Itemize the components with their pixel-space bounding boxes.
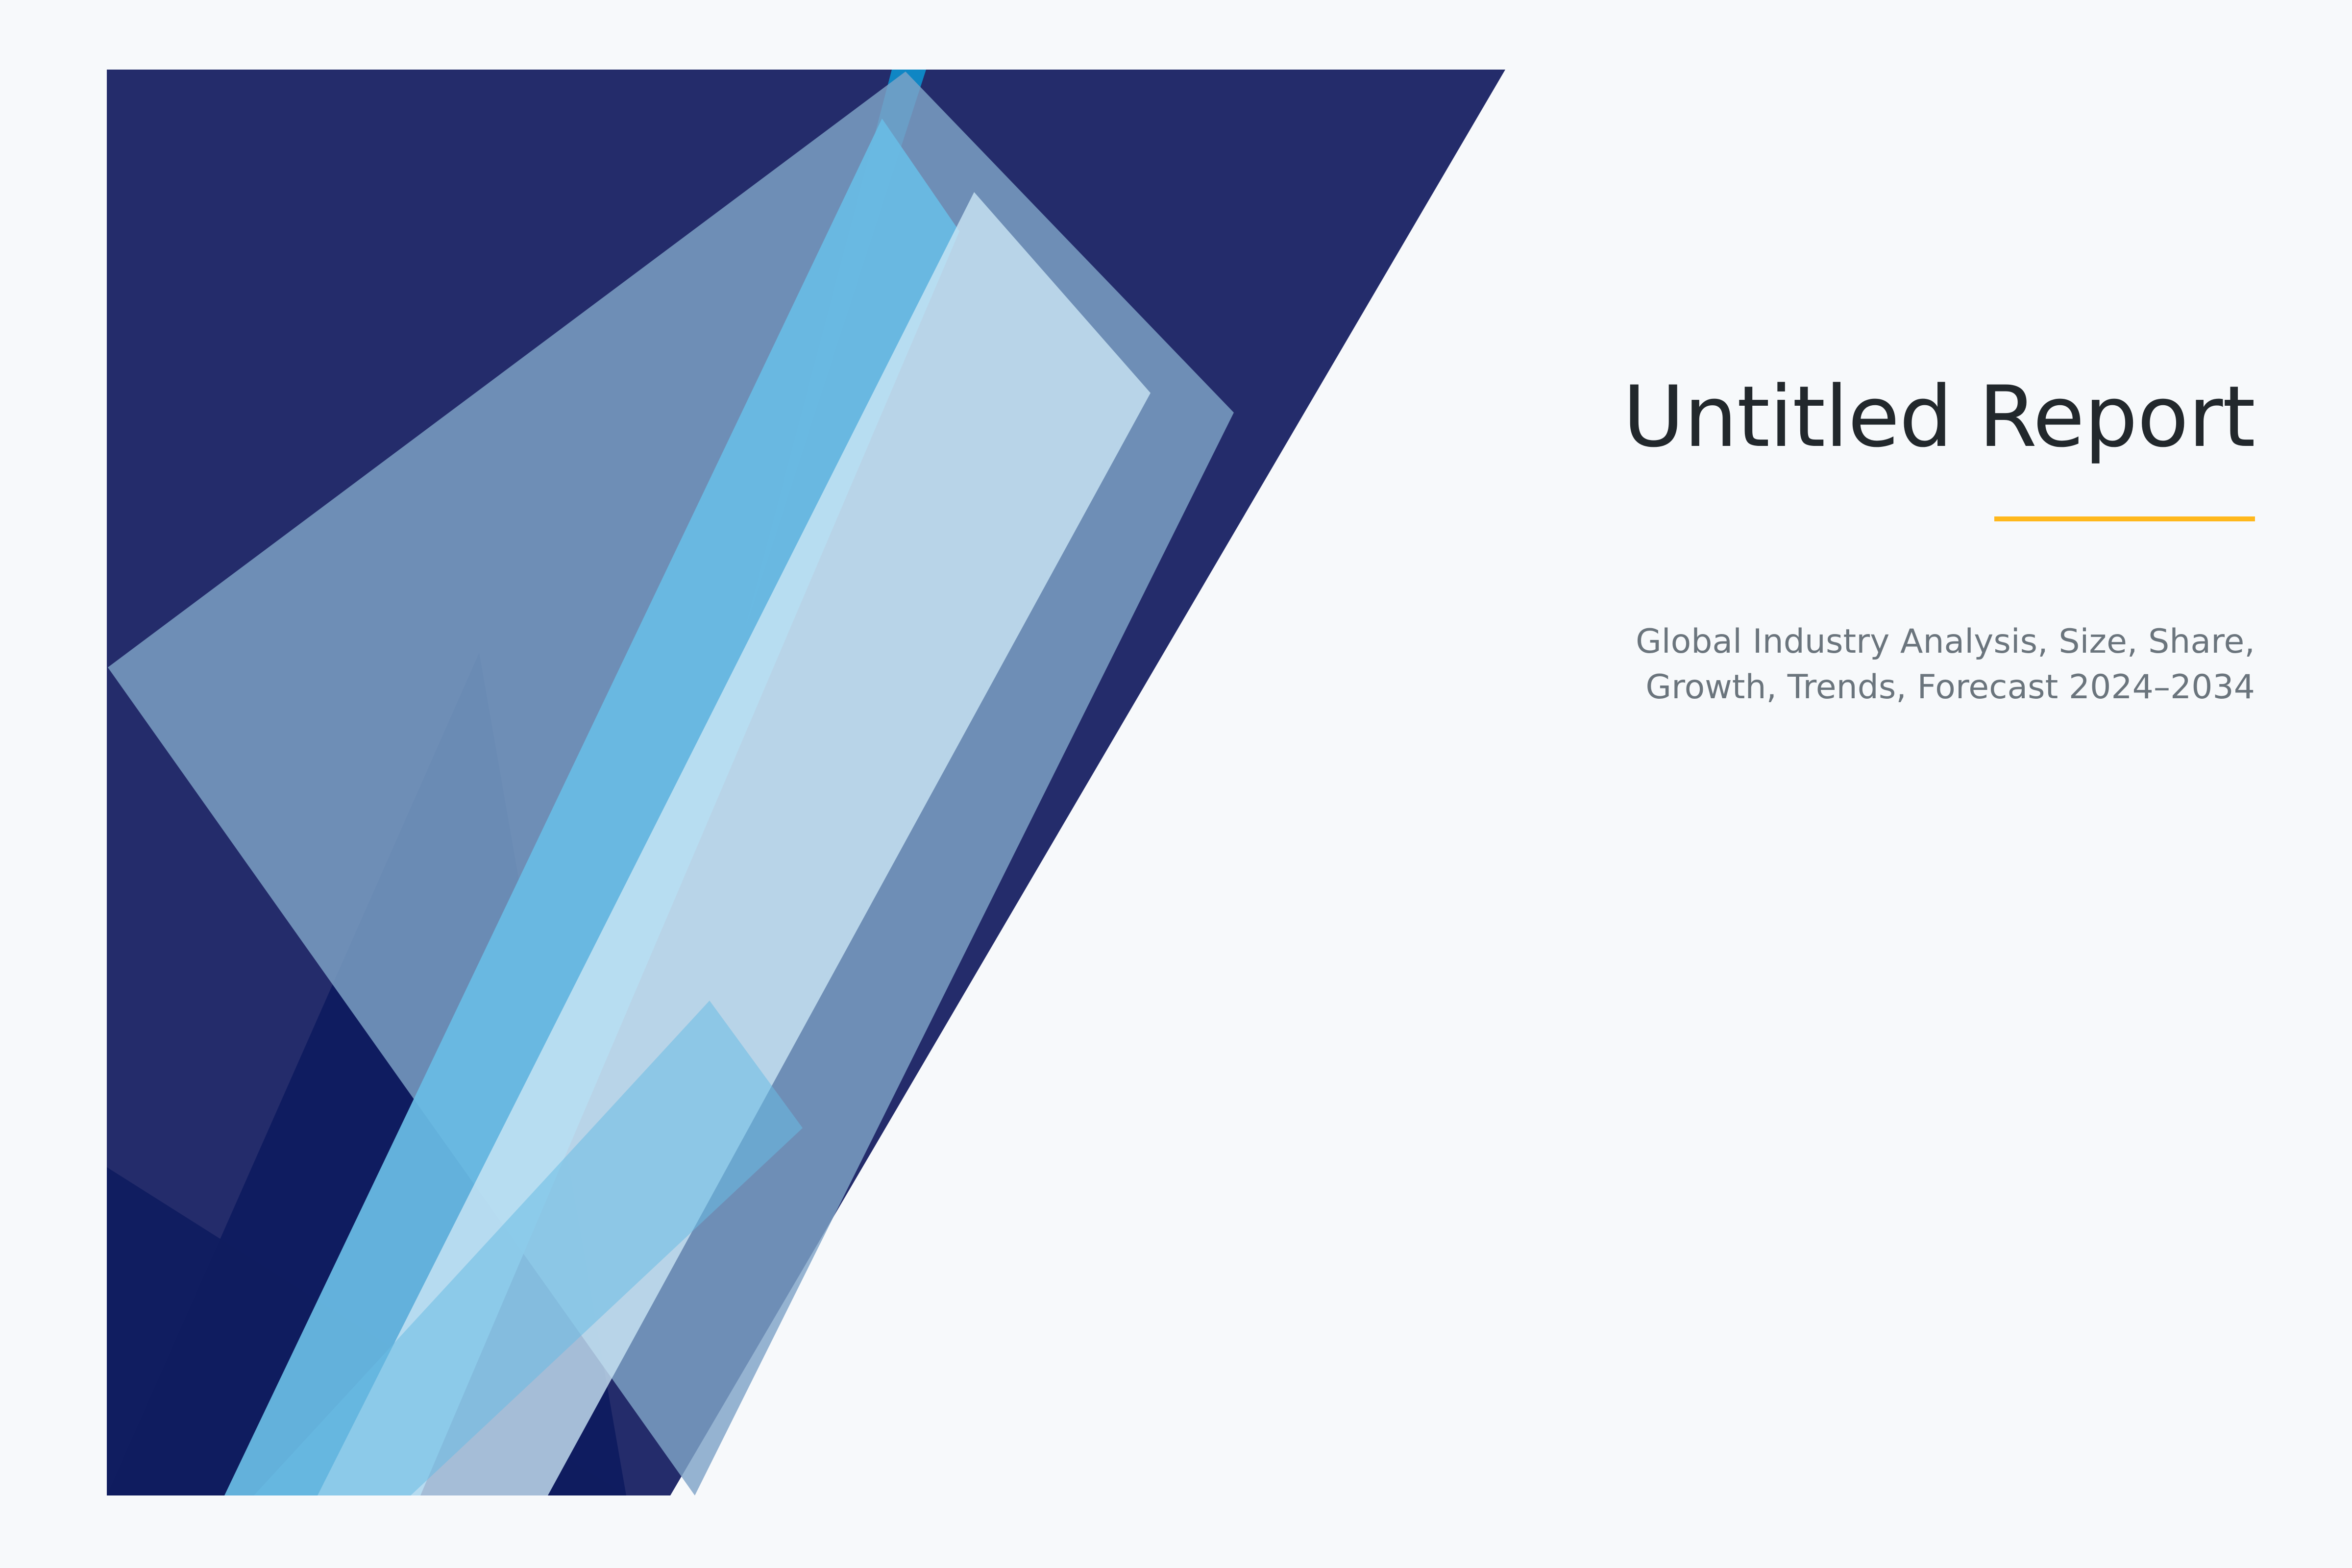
page-title: Untitled Report (1617, 372, 2255, 462)
cover-art-canvas (107, 70, 1508, 1495)
abstract-geometric-cover-art (107, 70, 1508, 1495)
report-cover-page: Untitled Report Global Industry Analysis… (0, 0, 2352, 1568)
report-subtitle: Global Industry Analysis, Size, Share, G… (1617, 619, 2255, 710)
title-accent-rule (1994, 516, 2255, 521)
cover-text-block: Untitled Report Global Industry Analysis… (1617, 372, 2255, 710)
